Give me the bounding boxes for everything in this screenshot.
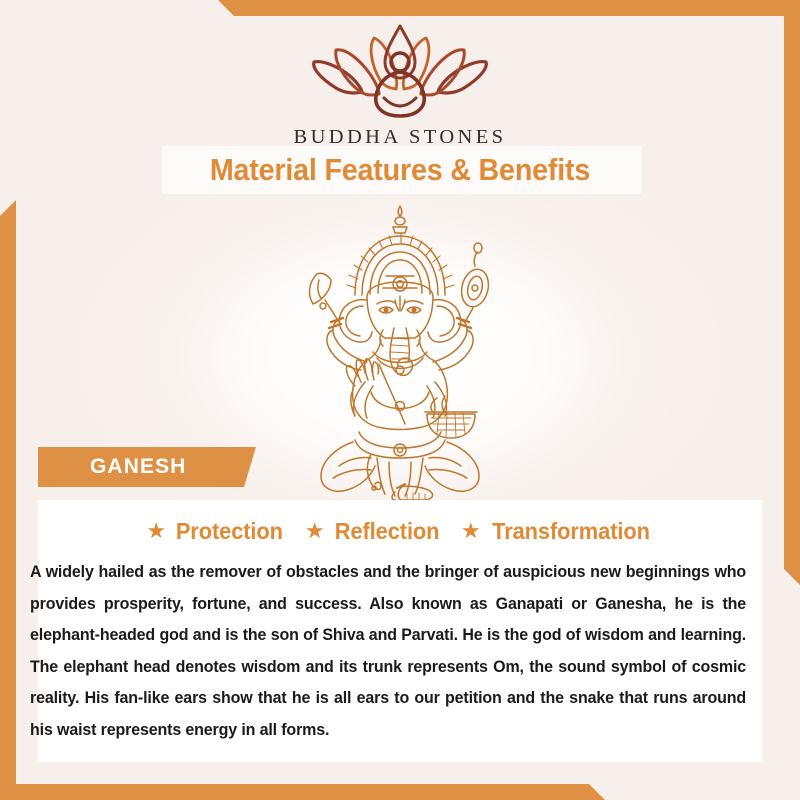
feature-item: ★ Reflection [305,518,442,545]
feature-item: ★ Transformation [461,518,654,545]
feature-label: Reflection [334,518,439,545]
page-title: Material Features & Benefits [24,146,776,194]
star-icon: ★ [305,520,325,542]
star-icon: ★ [461,520,481,542]
description-paragraph: A widely hailed as the remover of obstac… [30,556,746,745]
ganesh-tag-label: GANESH [90,447,186,487]
feature-item: ★ Protection [146,518,285,545]
ganesh-tag: GANESH [38,447,268,487]
star-icon: ★ [146,520,166,542]
feature-label: Protection [176,518,283,545]
feature-list: ★ Protection ★ Reflection ★ Transformati… [38,518,762,545]
frame-top-bar [218,0,800,16]
frame-left-bar [0,200,16,800]
frame-bottom-bar [0,784,605,800]
poster-root: BUDDHA STONES Material Features & Benefi… [0,0,800,800]
ganesh-deity-illustration [255,200,545,500]
brand-logo: BUDDHA STONES [0,18,800,149]
feature-label: Transformation [492,518,650,545]
lotus-meditation-icon [300,18,500,122]
